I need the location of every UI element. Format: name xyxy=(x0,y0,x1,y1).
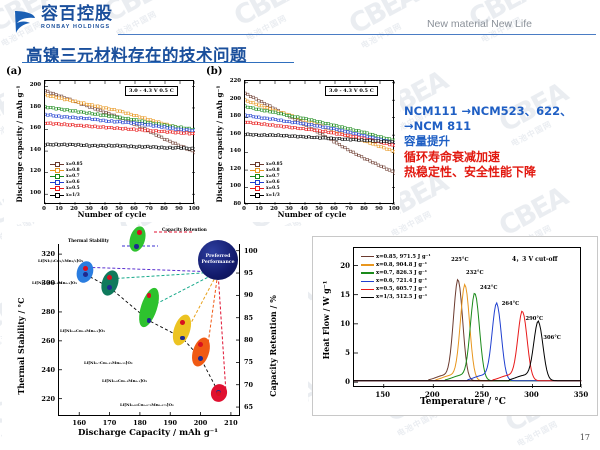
figure-a-legend: x=0.85x=0.8x=0.7x=0.6x=0.5x=1/3 xyxy=(50,161,83,198)
x-tick-label: 350 xyxy=(569,390,593,399)
dsc-peak-label-3: 264°C xyxy=(502,301,520,307)
logo-english-name: RONBAY HOLDINGS xyxy=(41,25,113,30)
dsc-legend-swatch xyxy=(361,287,374,292)
capacity-retention-point xyxy=(107,275,112,280)
summary-text-block: NCM111 →NCM523、622、 →NCM 811 容量提升 循环寿命衰减… xyxy=(404,104,600,181)
thermal-stability-point xyxy=(83,272,88,277)
summary-line-5: 热稳定性、安全性能下降 xyxy=(404,165,600,181)
figure-b-condition-box: 3.0 - 4.3 V 0.5 C xyxy=(325,86,378,96)
x-tick-label: 180 xyxy=(129,419,151,427)
y-tick-label: 180 xyxy=(224,113,241,119)
figure-d-dsc-chart: Heat Flow / W g⁻¹ Temperature / °C 4，3 V… xyxy=(312,236,598,416)
material-label: Li[Ni₀.₇Co₀.₁₅Mn₀.₁₅]O₂ xyxy=(84,360,133,365)
summary-line-3: 容量提升 xyxy=(404,134,600,149)
dsc-legend-item-0: x=0.85, 971.5 J g⁻¹ xyxy=(361,253,431,260)
figure-b-ylabel: Discharge capacity / mAh g⁻¹ xyxy=(215,74,224,214)
y-tick-label: 5 xyxy=(331,348,350,357)
material-label: Li[Ni₀.₅Co₀.₂Mn₀.₃]O₂ xyxy=(32,280,77,285)
y-tick-label: 160 xyxy=(24,125,41,131)
legend-label: x=0.5 xyxy=(66,186,80,191)
x-tick-label: 90 xyxy=(171,206,187,212)
legend-item-5: x=1/3 xyxy=(250,192,283,198)
capacity-retention-point xyxy=(147,293,152,298)
y-tick-label: 140 xyxy=(24,147,41,153)
x-tick-label: 160 xyxy=(68,419,90,427)
y-tick-label: 200 xyxy=(24,82,41,88)
y-tick-label: 140 xyxy=(224,148,241,154)
preferred-performance-badge: Preferred Performance xyxy=(198,240,238,280)
y-tick-label: 240 xyxy=(33,366,55,374)
y-tick-label: 100 xyxy=(24,190,41,196)
x-tick-label: 250 xyxy=(470,390,494,399)
x-tick-label: 70 xyxy=(141,206,157,212)
dsc-legend-swatch xyxy=(361,279,374,284)
thermal-stability-point xyxy=(198,356,203,361)
dsc-legend-item-5: x=1/3, 512.5 J g⁻¹ xyxy=(361,294,431,301)
y-tick-label: 180 xyxy=(24,104,41,110)
dsc-peak-label-0: 225°C xyxy=(451,257,469,263)
capacity-retention-point xyxy=(180,320,185,325)
legend-symbol xyxy=(50,193,64,198)
legend-label: x=0.6 xyxy=(266,180,280,185)
y-tick-label: 200 xyxy=(224,96,241,102)
dsc-legend-item-3: x=0.6, 721.4 J g⁻¹ xyxy=(361,278,431,285)
material-label: Li[Ni₀.₆Co₀.₂Mn₀.₂]O₂ xyxy=(60,328,105,333)
legend-symbol xyxy=(250,168,264,173)
figure-a-cycling-chart: (a) Discharge capacity / mAh g⁻¹ Number … xyxy=(4,64,200,222)
y-tick-label: 280 xyxy=(33,308,55,316)
y-tick-label: 15 xyxy=(331,290,350,299)
x-tick-label: 300 xyxy=(519,390,543,399)
y-tick-label: 220 xyxy=(33,395,55,403)
dsc-legend-item-1: x=0.8, 904.8 J g⁻¹ xyxy=(361,261,431,268)
dsc-legend-label: x=0.7, 826.3 J g⁻¹ xyxy=(376,270,427,276)
y-tick-label: 0 xyxy=(331,377,350,386)
dsc-legend-label: x=0.8, 904.8 J g⁻¹ xyxy=(376,262,427,268)
capacity-retention-point xyxy=(198,342,203,347)
material-label: Li[Ni₀.₈₅Co₀.₀₇₅Mn₀.₀₇₅]O₂ xyxy=(120,402,174,407)
legend-symbol xyxy=(250,193,264,198)
page-number: 17 xyxy=(580,433,590,442)
x-tick-label: 200 xyxy=(190,419,212,427)
header-tagline: New material New Life xyxy=(427,18,532,30)
legend-label: x=0.7 xyxy=(266,174,280,179)
legend-label: x=0.85 xyxy=(66,162,83,167)
figure-d-legend: x=0.85, 971.5 J g⁻¹x=0.8, 904.8 J g⁻¹x=0… xyxy=(361,253,431,301)
y-tick-label: 320 xyxy=(33,250,55,258)
legend-label: x=0.7 xyxy=(66,174,80,179)
x-tick-label: 100 xyxy=(186,206,202,212)
logo-chinese-name: 容百控股 xyxy=(41,6,113,23)
y2-tick-label: 65 xyxy=(244,403,264,411)
y2-tick-label: 85 xyxy=(244,314,264,322)
dsc-legend-swatch xyxy=(361,295,374,300)
x-tick-label: 10 xyxy=(251,206,267,212)
figure-c-ylabel: Thermal Stability / °C xyxy=(16,261,26,431)
material-label: Li[Ni₀.₈Co₀.₁Mn₀.₁]O₂ xyxy=(102,378,147,383)
slide-root: CBEA电池中国网CBEA电池中国网CBEA电池中国网CBEA电池中国网CBEA… xyxy=(0,0,600,450)
figure-a-ylabel: Discharge capacity / mAh g⁻¹ xyxy=(15,74,24,214)
figure-c-performance-map: Thermal Stability / °C Capacity Retentio… xyxy=(2,226,308,448)
legend-retention-dot xyxy=(137,230,142,235)
dsc-peak-label-4: 290°C xyxy=(526,316,544,322)
dsc-peak-label-5: 306°C xyxy=(543,335,561,341)
y-tick-label: 100 xyxy=(224,183,241,189)
dsc-legend-item-4: x=0.5, 605.7 J g⁻¹ xyxy=(361,286,431,293)
dsc-legend-item-2: x=0.7, 826.3 J g⁻¹ xyxy=(361,269,431,276)
dsc-legend-label: x=0.6, 721.4 J g⁻¹ xyxy=(376,278,427,284)
x-tick-label: 20 xyxy=(266,206,282,212)
y2-tick-label: 100 xyxy=(244,247,264,255)
y2-tick-label: 70 xyxy=(244,381,264,389)
y2-tick-label: 90 xyxy=(244,291,264,299)
legend-label: x=0.85 xyxy=(266,162,283,167)
y-tick-label: 120 xyxy=(224,166,241,172)
x-tick-label: 100 xyxy=(386,206,402,212)
ronbay-swoosh-icon xyxy=(14,8,36,34)
figure-d-condition-label: 4，3 V cut-off xyxy=(509,253,560,264)
dsc-legend-swatch xyxy=(361,270,374,275)
summary-line-4: 循环寿命衰减加速 xyxy=(404,150,600,166)
x-tick-label: 0 xyxy=(36,206,52,212)
x-tick-label: 30 xyxy=(281,206,297,212)
legend-thermal-dot xyxy=(134,244,139,249)
y2-tick-label: 75 xyxy=(244,358,264,366)
figure-b-legend: x=0.85x=0.8x=0.7x=0.6x=0.5x=1/3 xyxy=(250,161,283,198)
legend-item-5: x=1/3 xyxy=(50,192,83,198)
y-tick-label: 220 xyxy=(224,78,241,84)
y-tick-label: 10 xyxy=(331,319,350,328)
dsc-peak-label-2: 242°C xyxy=(480,285,498,291)
legend-symbol xyxy=(50,174,64,179)
x-tick-label: 200 xyxy=(420,390,444,399)
legend-label: x=0.8 xyxy=(66,168,80,173)
x-tick-label: 50 xyxy=(111,206,127,212)
figure-b-cycling-chart: (b) Discharge capacity / mAh g⁻¹ Number … xyxy=(204,64,400,222)
header-divider xyxy=(118,34,596,35)
dsc-legend-swatch xyxy=(361,262,374,267)
slide-header: 容百控股 RONBAY HOLDINGS New material New Li… xyxy=(0,0,600,44)
dsc-legend-label: x=0.85, 971.5 J g⁻¹ xyxy=(376,254,431,260)
x-tick-label: 30 xyxy=(81,206,97,212)
legend-symbol xyxy=(250,162,264,167)
x-tick-label: 80 xyxy=(356,206,372,212)
legend-symbol xyxy=(50,168,64,173)
y2-tick-label: 80 xyxy=(244,336,264,344)
legend-label: x=0.5 xyxy=(266,186,280,191)
legend-label: x=1/3 xyxy=(66,193,80,198)
thermal-stability-point xyxy=(107,285,112,290)
y-tick-label: 20 xyxy=(331,261,350,270)
brand-logo: 容百控股 RONBAY HOLDINGS xyxy=(14,6,113,34)
preferred-performance-label: Preferred Performance xyxy=(198,254,238,265)
legend-symbol xyxy=(250,180,264,185)
figure-c-xlabel: Discharge Capacity / mAh g⁻¹ xyxy=(58,428,238,438)
y2-tick-label: 95 xyxy=(244,269,264,277)
dsc-legend-swatch xyxy=(361,254,374,259)
legend-label: x=0.6 xyxy=(66,180,80,185)
x-tick-label: 50 xyxy=(311,206,327,212)
capacity-retention-point xyxy=(83,266,88,271)
summary-line-2: →NCM 811 xyxy=(404,119,600,134)
legend-symbol xyxy=(50,162,64,167)
dsc-peak-label-1: 232°C xyxy=(466,270,484,276)
x-tick-label: 190 xyxy=(159,419,181,427)
x-tick-label: 60 xyxy=(326,206,342,212)
dsc-legend-label: x=0.5, 605.7 J g⁻¹ xyxy=(376,286,427,292)
figure-c-y2label: Capacity Retention / % xyxy=(268,261,278,431)
x-tick-label: 150 xyxy=(371,390,395,399)
x-tick-label: 70 xyxy=(341,206,357,212)
x-tick-label: 20 xyxy=(66,206,82,212)
thermal-stability-annotation: Thermal Stability xyxy=(68,238,109,243)
dsc-legend-label: x=1/3, 512.5 J g⁻¹ xyxy=(376,294,427,300)
legend-label: x=1/3 xyxy=(266,193,280,198)
x-tick-label: 170 xyxy=(99,419,121,427)
x-tick-label: 60 xyxy=(126,206,142,212)
figure-d-ylabel: Heat Flow / W g⁻¹ xyxy=(321,255,331,385)
x-tick-label: 210 xyxy=(220,419,242,427)
material-label: Li[Ni₁/₃Co₁/₃Mn₁/₃]O₂ xyxy=(38,258,83,263)
y-tick-label: 160 xyxy=(224,131,241,137)
thermal-stability-point xyxy=(180,336,185,341)
title-underline xyxy=(22,62,294,63)
summary-line-1: NCM111 →NCM523、622、 xyxy=(404,104,600,119)
y-tick-label: 120 xyxy=(24,168,41,174)
capacity-retention-annotation: Capacity Retention xyxy=(162,227,207,232)
legend-symbol xyxy=(250,174,264,179)
x-tick-label: 80 xyxy=(156,206,172,212)
x-tick-label: 90 xyxy=(371,206,387,212)
figure-a-condition-box: 3.0 - 4.3 V 0.5 C xyxy=(125,86,178,96)
legend-symbol xyxy=(50,186,64,191)
x-tick-label: 40 xyxy=(96,206,112,212)
x-tick-label: 40 xyxy=(296,206,312,212)
legend-label: x=0.8 xyxy=(266,168,280,173)
y-tick-label: 80 xyxy=(224,201,241,207)
legend-symbol xyxy=(50,180,64,185)
legend-symbol xyxy=(250,186,264,191)
y-tick-label: 260 xyxy=(33,337,55,345)
x-tick-label: 10 xyxy=(51,206,67,212)
